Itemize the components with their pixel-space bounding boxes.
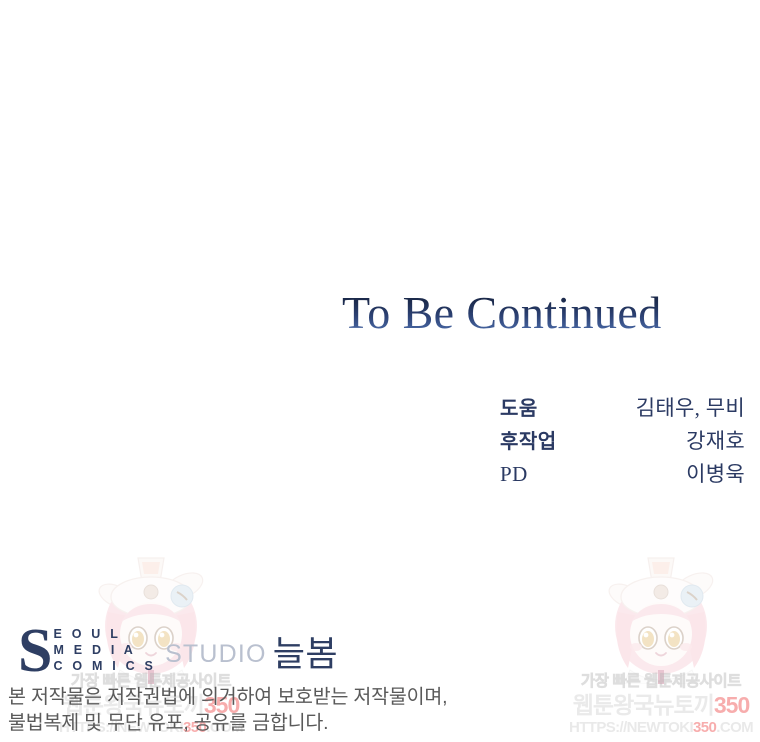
to-be-continued-banner: To Be Continued [342,288,750,342]
watermark-text: 가장 빠른 웹툰제공사이트 웹툰왕국뉴토끼350 HTTPS://NEWTOKI… [568,672,754,737]
studio-logo: S E O U L M E D I A C O M I C S STUDIO 늘… [18,616,338,678]
credit-value: 강재호 [686,425,745,455]
credit-row: 후작업 강재호 [500,425,745,458]
bunny-nurse-mascot-icon [586,552,736,684]
logo-studio-name: 늘봄 [273,636,338,678]
watermark-brand: 웹툰왕국뉴토끼350 [568,692,754,718]
credit-row: PD 이병욱 [500,458,745,491]
credits-list: 도움 김태우, 무비 후작업 강재호 PD 이병욱 [500,392,745,491]
copyright-line-2: 불법복제 및 무단 유포, 공유를 금합니다. [8,710,508,736]
credit-label: 도움 [500,392,538,421]
watermark-right: 가장 빠른 웹툰제공사이트 웹툰왕국뉴토끼350 HTTPS://NEWTOKI… [568,552,754,742]
credit-value: 이병욱 [686,458,745,488]
watermark-tagline: 가장 빠른 웹툰제공사이트 [568,672,754,692]
copyright-notice: 본 저작물은 저작권법에 의거하여 보호받는 저작물이며, 불법복제 및 무단 … [8,684,508,736]
credit-label: 후작업 [500,425,557,454]
webtoon-ending-page: To Be Continued 도움 김태우, 무비 후작업 강재호 PD 이병… [0,0,760,742]
logo-word-seoul: E O U L [53,626,156,642]
credit-value: 김태우, 무비 [636,392,745,422]
to-be-continued-text: To Be Continued [342,288,750,338]
logo-word-media: M E D I A [53,642,156,658]
logo-monogram: S [18,624,52,678]
copyright-line-1: 본 저작물은 저작권법에 의거하여 보호받는 저작물이며, [8,684,508,710]
watermark-url: HTTPS://NEWTOKI350.COM [568,718,754,737]
logo-studio-text: STUDIO [165,640,267,678]
credit-label: PD [500,462,528,487]
credit-row: 도움 김태우, 무비 [500,392,745,425]
logo-wordmark: E O U L M E D I A C O M I C S [53,626,156,678]
logo-word-comics: C O M I C S [53,658,156,674]
